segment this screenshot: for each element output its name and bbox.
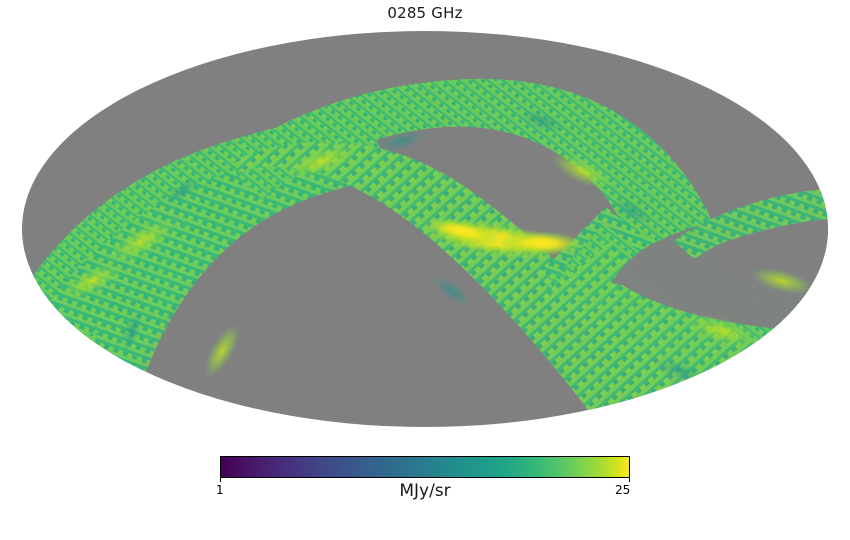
colorbar-gradient — [220, 456, 630, 478]
colorbar: 1 25 MJy/sr — [220, 456, 630, 478]
figure-canvas: 0285 GHz — [0, 0, 850, 540]
colorbar-unit-label: MJy/sr — [220, 481, 630, 501]
mollweide-projection-svg — [22, 31, 828, 427]
page-title: 0285 GHz — [0, 4, 850, 22]
sky-map — [22, 31, 828, 427]
